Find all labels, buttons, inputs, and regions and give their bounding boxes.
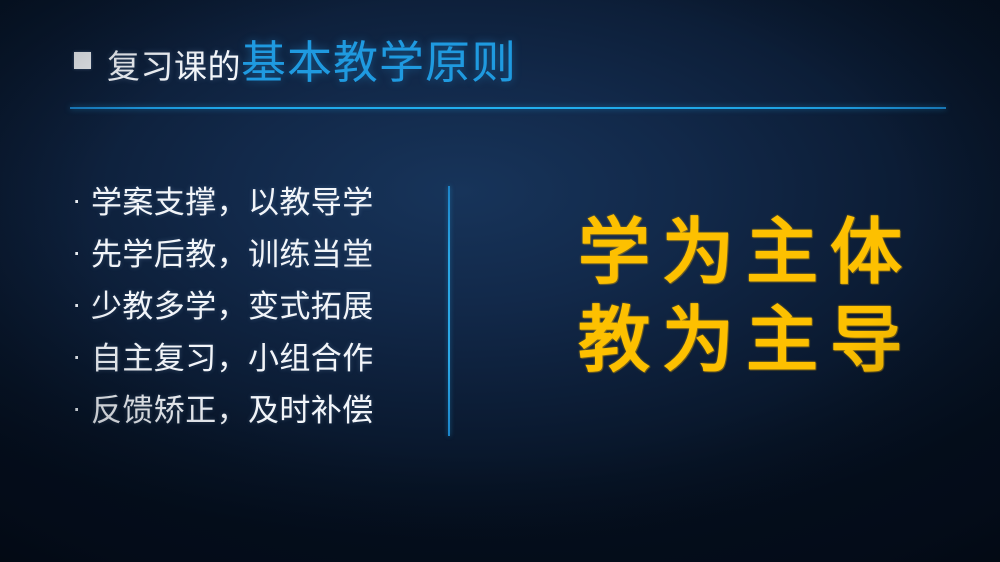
title-underline-rule [70,107,946,109]
list-item: · 自主复习，小组合作 [72,332,432,384]
list-item: · 学案支撑，以教导学 [72,176,432,228]
title-emphasis-text: 基本教学原则 [241,40,517,85]
list-item-label: 学案支撑，以教导学 [91,187,374,218]
slogan-line: 学为主体 [540,208,940,296]
bullet-dot-icon: · [72,394,91,422]
principles-bullet-list: · 学案支撑，以教导学 · 先学后教，训练当堂 · 少教多学，变式拓展 · 自主… [72,176,432,436]
bullet-dot-icon: · [72,238,91,266]
title-prefix-text: 复习课的 [107,50,241,83]
slogan-block: 学为主体 教为主导 [540,208,940,384]
list-item: · 反馈矫正，及时补偿 [72,384,432,436]
bullet-dot-icon: · [72,186,91,214]
list-item-label: 自主复习，小组合作 [91,343,374,374]
bullet-dot-icon: · [72,290,91,318]
list-item-label: 先学后教，训练当堂 [91,239,374,270]
slide-title: 复习课的 基本教学原则 [74,40,517,85]
list-item: · 少教多学，变式拓展 [72,280,432,332]
list-item-label: 少教多学，变式拓展 [91,291,374,322]
slogan-line: 教为主导 [540,296,940,384]
square-marker-icon [74,52,91,69]
list-item-label: 反馈矫正，及时补偿 [91,395,374,426]
bullet-dot-icon: · [72,342,91,370]
list-item: · 先学后教，训练当堂 [72,228,432,280]
column-divider-rule [448,186,450,436]
slide-canvas: 复习课的 基本教学原则 · 学案支撑，以教导学 · 先学后教，训练当堂 · 少教… [0,0,1000,562]
